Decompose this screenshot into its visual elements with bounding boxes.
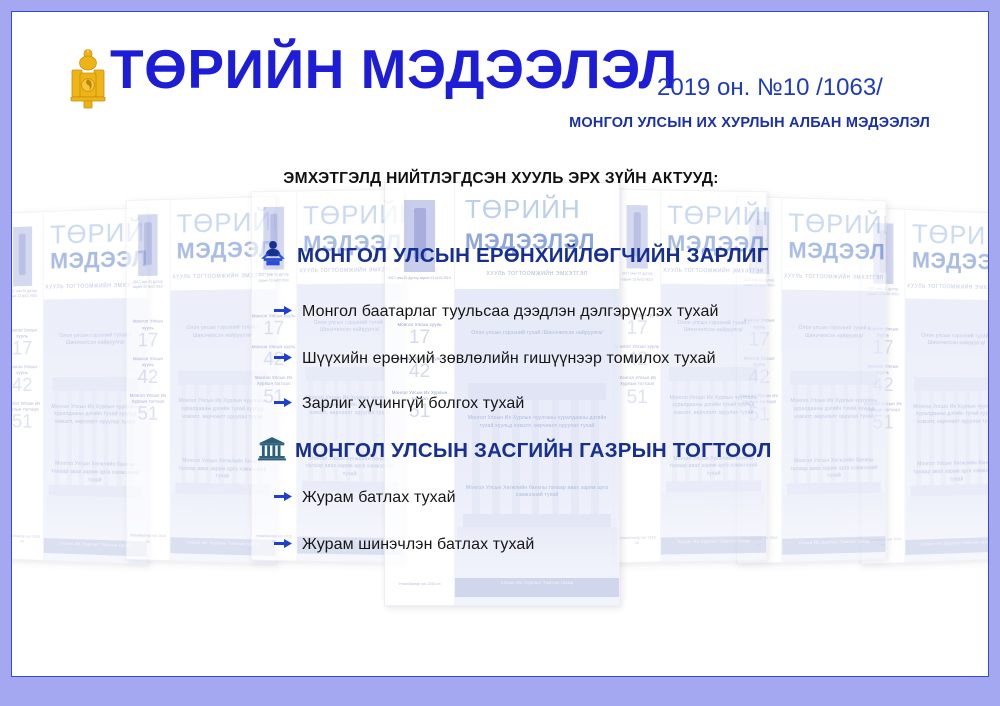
act-title: Зарлиг хүчингүй болгох тухай [302,395,524,413]
official-bulletin-line: МОНГОЛ УЛСЫН ИХ ХУРЛЫН АЛБАН МЭДЭЭЛЭЛ [12,115,930,131]
act-item[interactable]: Зарлиг хүчингүй болгох тухай [274,395,524,414]
act-title: Журам батлах тухай [302,489,456,507]
act-item[interactable]: Шүүхийн ерөнхий зөвлөлийн гишүүнээр томи… [274,350,716,369]
arrow-right-icon [274,489,292,507]
arrow-right-icon [274,303,292,321]
section-title-text: МОНГОЛ УЛСЫН ЕРӨНХИЙЛӨГЧИЙН ЗАРЛИГ [297,244,769,268]
soyombo-state-emblem-icon [67,48,109,110]
act-title: Журам шинэчлэн батлах тухай [302,536,534,554]
section-title-text: МОНГОЛ УЛСЫН ЗАСГИЙН ГАЗРЫН ТОГТООЛ [295,439,772,463]
section-header-government: МОНГОЛ УЛСЫН ЗАСГИЙН ГАЗРЫН ТОГТООЛ [258,436,772,466]
publication-page: 2017 оны 01 дүгээр сарын 13 №02 /931/Мон… [0,0,1000,706]
act-item[interactable]: Журам шинэчлэн батлах тухай [274,536,534,555]
publication-brand-title: ТӨРИЙН МЭДЭЭЛЭЛ [110,42,678,97]
masthead: ТӨРИЙН МЭДЭЭЛЭЛ 2019 он. №10 /1063/ МОНГ… [12,12,989,137]
arrow-right-icon [274,395,292,413]
podium-speaker-icon [258,240,288,272]
act-item[interactable]: Монгол баатарлаг туульсаа дээдлэн дэлгэр… [274,303,718,322]
act-title: Монгол баатарлаг туульсаа дээдлэн дэлгэр… [302,303,718,321]
issue-number: 2019 он. №10 /1063/ [657,74,883,102]
government-building-icon [258,436,286,466]
act-title: Шүүхийн ерөнхий зөвлөлийн гишүүнээр томи… [302,350,716,368]
acts-section-title: ЭМХЭТГЭЛД НИЙТЛЭГДСЭН ХУУЛЬ ЭРХ ЗҮЙН АКТ… [12,170,989,188]
section-header-president: МОНГОЛ УЛСЫН ЕРӨНХИЙЛӨГЧИЙН ЗАРЛИГ [258,240,769,272]
act-item[interactable]: Журам батлах тухай [274,489,456,508]
arrow-right-icon [274,536,292,554]
arrow-right-icon [274,350,292,368]
page-sheet: 2017 оны 01 дүгээр сарын 13 №02 /931/Мон… [11,11,989,677]
